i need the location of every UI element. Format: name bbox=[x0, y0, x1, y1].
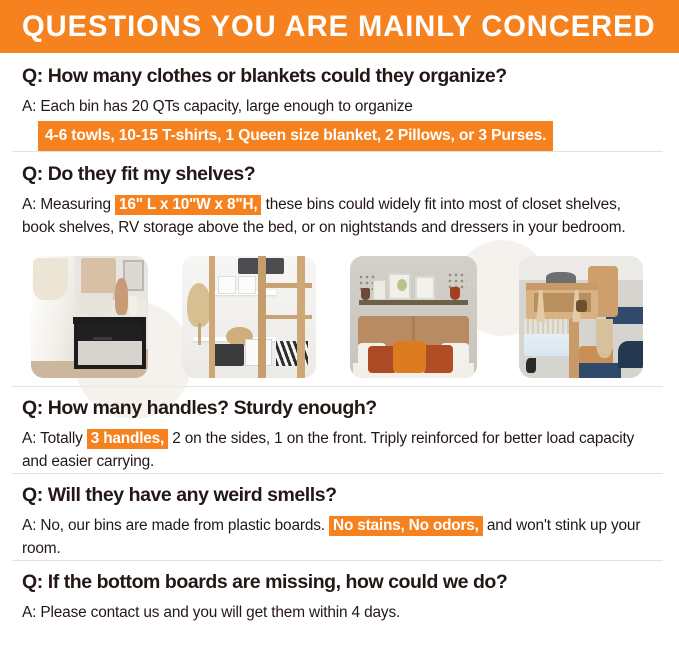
faq-item-4: Q: Will they have any weird smells? A: N… bbox=[0, 474, 679, 560]
faq-question-2: Q: Do they fit my shelves? bbox=[22, 163, 663, 186]
faq-answer-4: A: No, our bins are made from plastic bo… bbox=[22, 514, 663, 560]
faq-answer-5: A: Please contact us and you will get th… bbox=[22, 601, 663, 624]
faq-answer-2-part1: A: Measuring bbox=[22, 196, 115, 213]
faq-answer-3: A: Totally 3 handles, 2 on the sides, 1 … bbox=[22, 427, 663, 473]
page-header-banner: QUESTIONS YOU ARE MAINLY CONCERED bbox=[0, 0, 679, 53]
faq-question-5: Q: If the bottom boards are missing, how… bbox=[22, 571, 663, 594]
faq-question-3: Q: How many handles? Sturdy enough? bbox=[22, 397, 663, 420]
image-gallery bbox=[22, 246, 663, 386]
gallery-image-2-scene bbox=[182, 256, 316, 378]
gallery-image-1[interactable] bbox=[31, 256, 148, 378]
faq-answer-2-highlight: 16" L x 10"W x 8"H, bbox=[115, 195, 261, 215]
faq-content: Q: How many clothes or blankets could th… bbox=[0, 53, 679, 624]
faq-item-1: Q: How many clothes or blankets could th… bbox=[0, 53, 679, 151]
faq-answer-3-part1: A: Totally bbox=[22, 430, 87, 447]
gallery-image-4-scene bbox=[519, 256, 643, 378]
faq-question-4: Q: Will they have any weird smells? bbox=[22, 484, 663, 507]
faq-answer-3-highlight: 3 handles, bbox=[87, 429, 168, 449]
gallery-image-2[interactable] bbox=[182, 256, 316, 378]
faq-page: QUESTIONS YOU ARE MAINLY CONCERED Q: How… bbox=[0, 0, 679, 671]
gallery-image-3[interactable] bbox=[350, 256, 477, 378]
page-title: QUESTIONS YOU ARE MAINLY CONCERED bbox=[22, 10, 656, 44]
faq-item-2: Q: Do they fit my shelves? A: Measuring … bbox=[0, 152, 679, 386]
faq-answer-2: A: Measuring 16" L x 10"W x 8"H, these b… bbox=[22, 193, 663, 239]
faq-answer-1-text: A: Each bin has 20 QTs capacity, large e… bbox=[22, 98, 413, 115]
faq-answer-4-highlight: No stains, No odors, bbox=[329, 516, 483, 536]
faq-item-5: Q: If the bottom boards are missing, how… bbox=[0, 561, 679, 624]
faq-answer-1: A: Each bin has 20 QTs capacity, large e… bbox=[22, 95, 663, 151]
gallery-image-1-scene bbox=[31, 256, 148, 378]
gallery-image-4[interactable] bbox=[519, 256, 643, 378]
faq-answer-1-highlight: 4-6 towls, 10-15 T-shirts, 1 Queen size … bbox=[38, 121, 553, 151]
faq-question-1: Q: How many clothes or blankets could th… bbox=[22, 65, 663, 88]
faq-item-3: Q: How many handles? Sturdy enough? A: T… bbox=[0, 387, 679, 473]
faq-answer-4-part1: A: No, our bins are made from plastic bo… bbox=[22, 517, 329, 534]
gallery-image-3-scene bbox=[350, 256, 477, 378]
